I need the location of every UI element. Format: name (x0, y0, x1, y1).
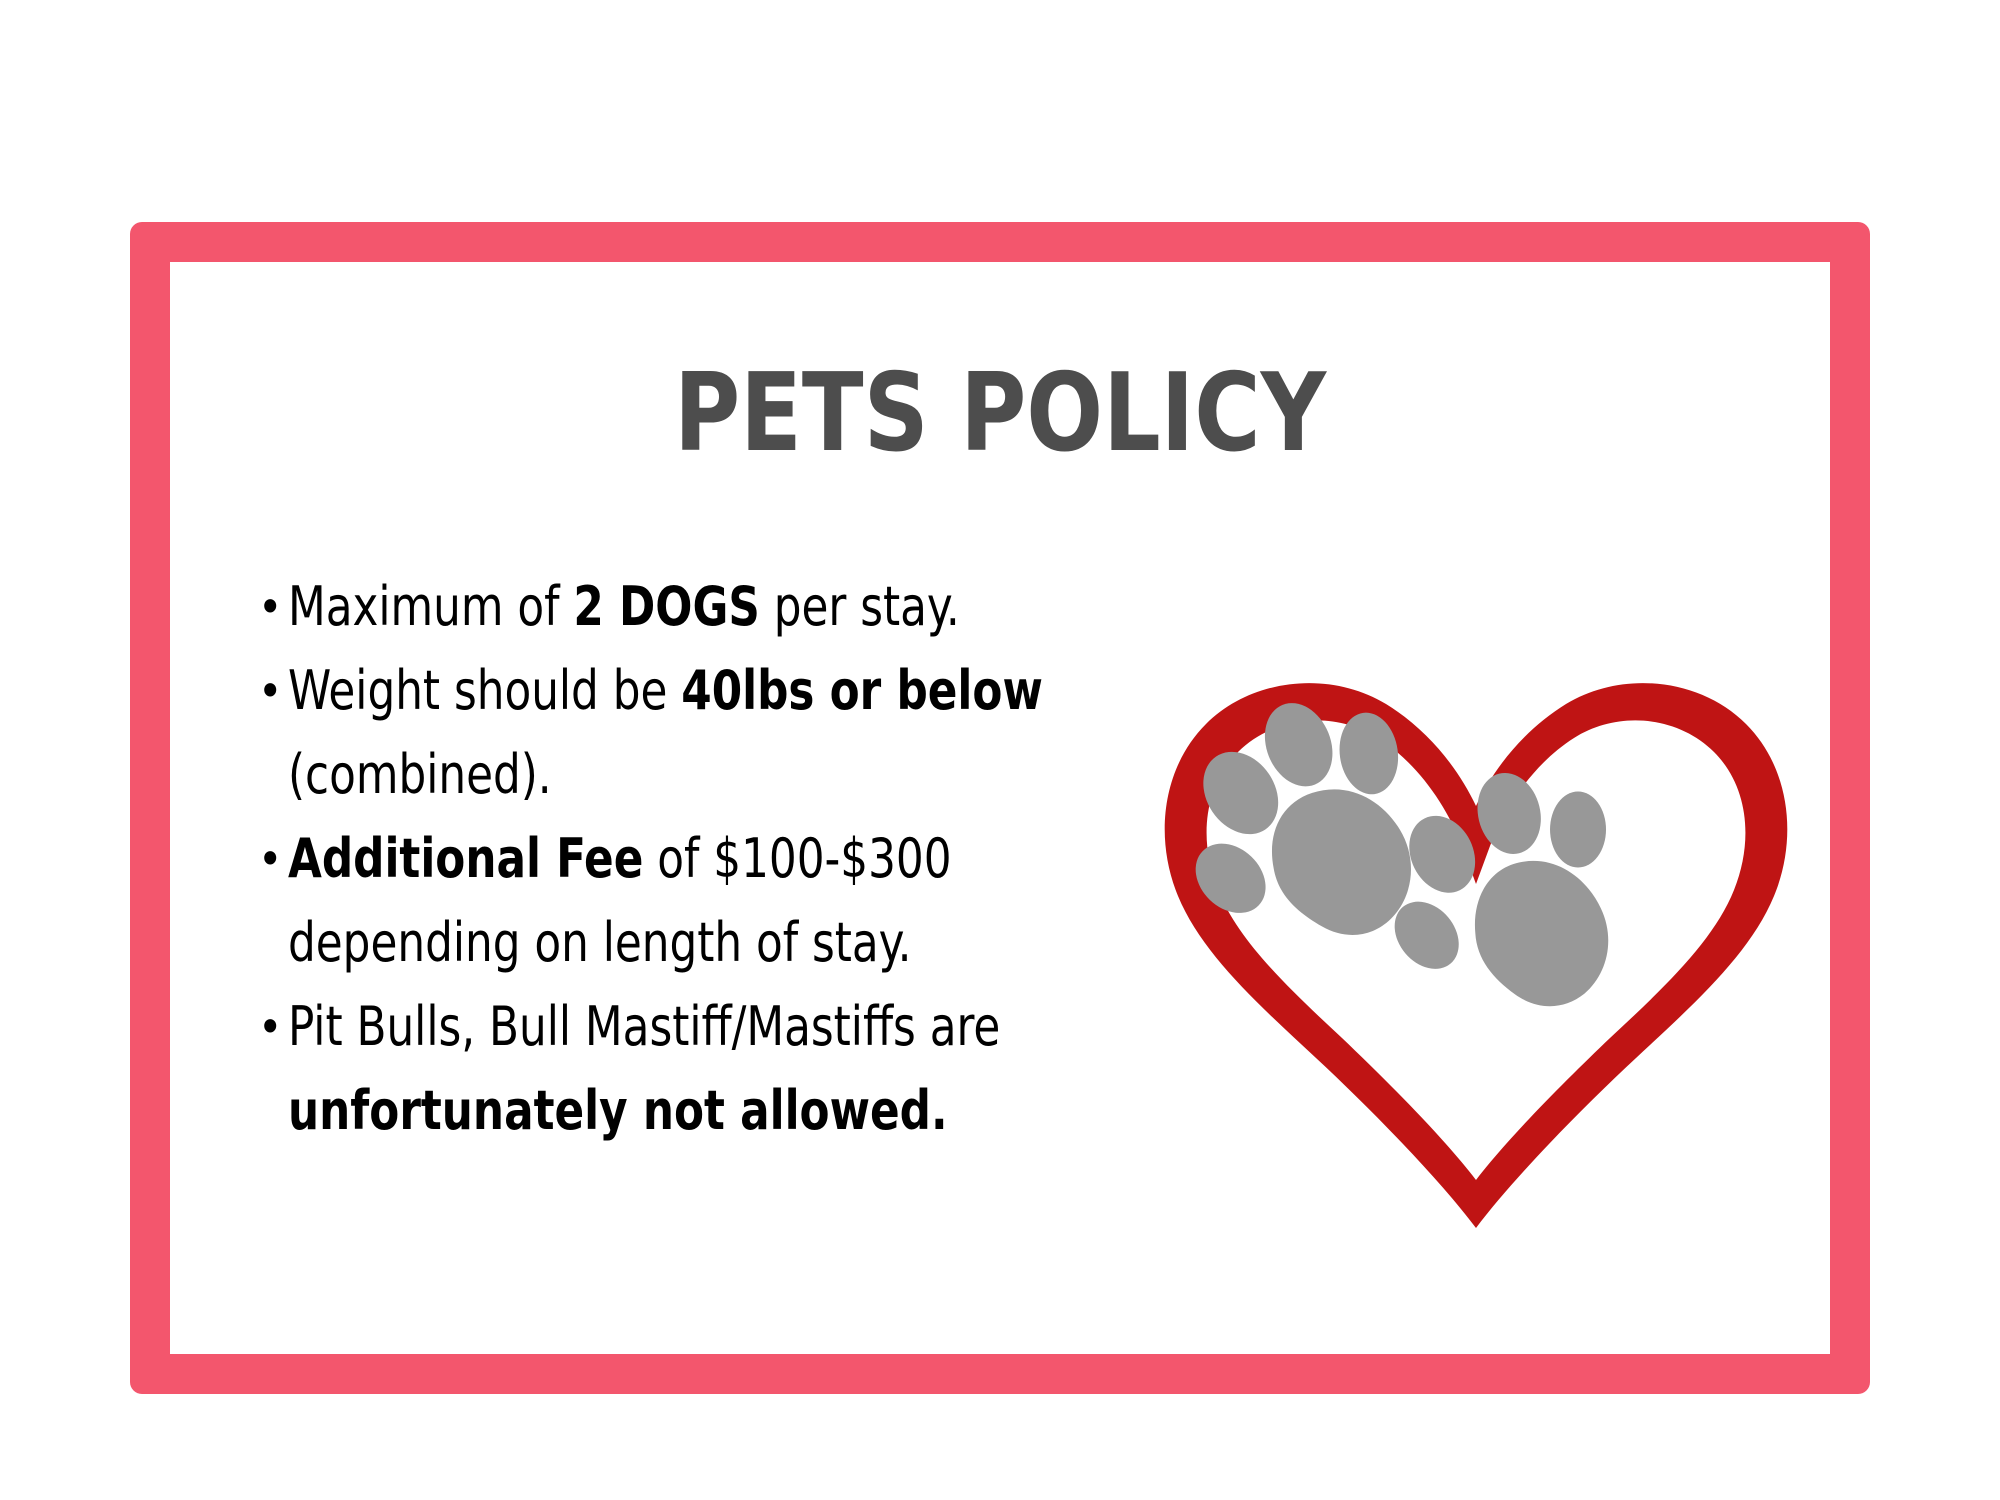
policy-bullet-weight-limit: •Weight should be 40lbs or below (258, 649, 1198, 733)
bullet-dot-icon: • (258, 985, 288, 1069)
plain-text: per stay. (760, 575, 960, 638)
policy-bullet-text: Pit Bulls, Bull Mastiff/Mastiffs are (288, 985, 1107, 1069)
policy-bullet-breed-restrictions-cont: unfortunately not allowed. (258, 1069, 1198, 1153)
policy-bullet-text: Maximum of 2 DOGS per stay. (288, 565, 1107, 649)
bullet-dot-icon: • (258, 565, 288, 649)
policy-bullet-text: Weight should be 40lbs or below (288, 649, 1107, 733)
plain-text: Weight should be (288, 659, 681, 722)
page-title: PETS POLICY (70, 360, 1930, 468)
emphasis-text: 40lbs or below (681, 659, 1043, 722)
policy-bullet-text: unfortunately not allowed. (288, 1069, 1107, 1153)
policy-bullet-additional-fee-cont: depending on length of stay. (258, 901, 1198, 985)
emphasis-text: Additional Fee (288, 827, 643, 890)
plain-text: depending on length of stay. (288, 911, 912, 974)
emphasis-text: unfortunately not allowed. (288, 1079, 948, 1142)
policy-bullet-weight-limit-cont: (combined). (258, 733, 1198, 817)
bullet-dot-icon: • (258, 817, 288, 901)
plain-text: Pit Bulls, Bull Mastiff/Mastiffs are (288, 995, 1000, 1058)
emphasis-text: 2 DOGS (573, 575, 759, 638)
policy-bullet-max-dogs: •Maximum of 2 DOGS per stay. (258, 565, 1198, 649)
policy-bullet-text: (combined). (288, 733, 1107, 817)
policy-bullet-additional-fee: •Additional Fee of $100-$300 (258, 817, 1198, 901)
policy-bullet-breed-restrictions: •Pit Bulls, Bull Mastiff/Mastiffs are (258, 985, 1198, 1069)
poster-canvas: PETS POLICY •Maximum of 2 DOGS per stay.… (0, 0, 2000, 1500)
plain-text: of $100-$300 (643, 827, 951, 890)
plain-text: Maximum of (288, 575, 573, 638)
policy-bullet-list: •Maximum of 2 DOGS per stay.•Weight shou… (258, 565, 1198, 1153)
policy-bullet-text: depending on length of stay. (288, 901, 1107, 985)
heart-with-paw-prints-illustration (1140, 640, 1820, 1250)
policy-bullet-text: Additional Fee of $100-$300 (288, 817, 1107, 901)
plain-text: (combined). (288, 743, 552, 806)
bullet-dot-icon: • (258, 649, 288, 733)
